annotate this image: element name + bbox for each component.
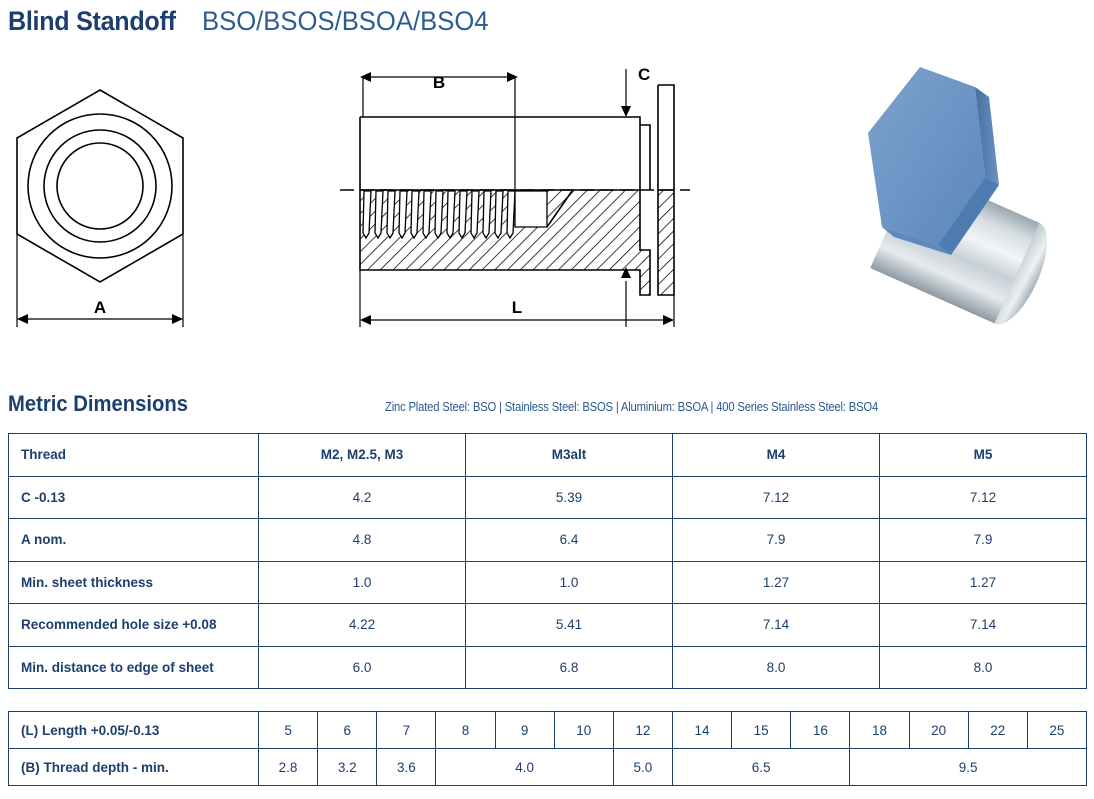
table-row: Min. distance to edge of sheet6.06.88.08… <box>9 646 1087 689</box>
length-cell: 14 <box>672 712 731 749</box>
row-label: Min. distance to edge of sheet <box>9 646 259 689</box>
dimension-b <box>363 77 515 190</box>
thread-depth-cell: 6.5 <box>672 749 849 786</box>
column-header-m3alt: M3alt <box>466 434 673 477</box>
flange-outline <box>658 85 674 190</box>
table-row: Min. sheet thickness1.01.01.271.27 <box>9 561 1087 604</box>
row-label: A nom. <box>9 519 259 562</box>
thread-depth-cell: 9.5 <box>850 749 1087 786</box>
length-row: (L) Length +0.05/-0.13567891012141516182… <box>9 712 1087 749</box>
column-header-m4: M4 <box>673 434 880 477</box>
table-cell: 6.4 <box>466 519 673 562</box>
table-header-row: ThreadM2, M2.5, M3M3altM4M5 <box>9 434 1087 477</box>
row-label-thread-depth: (B) Thread depth - min. <box>9 749 259 786</box>
table-cell: 4.8 <box>259 519 466 562</box>
cross-section-view: B C <box>340 55 690 345</box>
column-header-thread: Thread <box>9 434 259 477</box>
page-title: Blind Standoff <box>8 6 176 37</box>
table-cell: 7.9 <box>673 519 880 562</box>
length-cell: 5 <box>259 712 318 749</box>
table-cell: 8.0 <box>880 646 1087 689</box>
table-cell: 5.41 <box>466 604 673 647</box>
table-cell: 7.12 <box>673 476 880 519</box>
table-cell: 1.27 <box>673 561 880 604</box>
row-label-length: (L) Length +0.05/-0.13 <box>9 712 259 749</box>
section-title: Metric Dimensions <box>8 391 188 417</box>
table-cell: 1.0 <box>259 561 466 604</box>
row-label: Min. sheet thickness <box>9 561 259 604</box>
hexagon-top-view: A <box>0 55 230 345</box>
row-label: C -0.13 <box>9 476 259 519</box>
datasheet-page: Blind Standoff BSO/BSOS/BSOA/BSO4 A <box>0 0 1094 799</box>
dimension-label-c: C <box>638 65 650 84</box>
length-cell: 7 <box>377 712 436 749</box>
table-row: C -0.134.25.397.127.12 <box>9 476 1087 519</box>
length-cell: 15 <box>732 712 791 749</box>
3d-standoff-render <box>790 55 1090 345</box>
length-cell: 10 <box>554 712 613 749</box>
table-cell: 1.27 <box>880 561 1087 604</box>
length-cell: 8 <box>436 712 495 749</box>
length-cell: 6 <box>318 712 377 749</box>
dimension-label-l: L <box>512 298 522 317</box>
table-cell: 7.9 <box>880 519 1087 562</box>
drawings-band: A B <box>0 55 1094 355</box>
length-cell: 16 <box>791 712 850 749</box>
length-cell: 25 <box>1027 712 1086 749</box>
thread-depth-cell: 5.0 <box>613 749 672 786</box>
length-cell: 9 <box>495 712 554 749</box>
length-cell: 12 <box>613 712 672 749</box>
table-cell: 6.0 <box>259 646 466 689</box>
table-row: A nom.4.86.47.97.9 <box>9 519 1087 562</box>
length-cell: 20 <box>909 712 968 749</box>
table-cell: 1.0 <box>466 561 673 604</box>
row-label: Recommended hole size +0.08 <box>9 604 259 647</box>
table-row: Recommended hole size +0.084.225.417.147… <box>9 604 1087 647</box>
materials-note: Zinc Plated Steel: BSO | Stainless Steel… <box>385 400 878 414</box>
table-cell: 8.0 <box>673 646 880 689</box>
table-cell: 7.14 <box>673 604 880 647</box>
dimension-arrow-right <box>172 314 183 324</box>
table-cell: 7.12 <box>880 476 1087 519</box>
length-cell: 18 <box>850 712 909 749</box>
dimension-label-b: B <box>433 73 445 92</box>
metric-dimensions-table: ThreadM2, M2.5, M3M3altM4M5C -0.134.25.3… <box>8 433 1087 689</box>
table-cell: 5.39 <box>466 476 673 519</box>
thread-depth-cell: 4.0 <box>436 749 613 786</box>
length-thread-depth-table: (L) Length +0.05/-0.13567891012141516182… <box>8 711 1087 786</box>
thread-depth-cell: 3.2 <box>318 749 377 786</box>
column-header-m5: M5 <box>880 434 1087 477</box>
table-cell: 4.22 <box>259 604 466 647</box>
table-cell: 7.14 <box>880 604 1087 647</box>
thread-depth-cell: 2.8 <box>259 749 318 786</box>
dimension-arrow-left <box>17 314 28 324</box>
body-outline-upper <box>360 117 650 190</box>
thread-depth-row: (B) Thread depth - min.2.83.23.64.05.06.… <box>9 749 1087 786</box>
part-codes: BSO/BSOS/BSOA/BSO4 <box>202 6 489 37</box>
length-cell: 22 <box>968 712 1027 749</box>
thread-depth-cell: 3.6 <box>377 749 436 786</box>
column-header-m2-m2-5-m3: M2, M2.5, M3 <box>259 434 466 477</box>
dimension-label-a: A <box>94 298 106 317</box>
table-cell: 4.2 <box>259 476 466 519</box>
table-cell: 6.8 <box>466 646 673 689</box>
page-header: Blind Standoff BSO/BSOS/BSOA/BSO4 <box>8 6 504 37</box>
